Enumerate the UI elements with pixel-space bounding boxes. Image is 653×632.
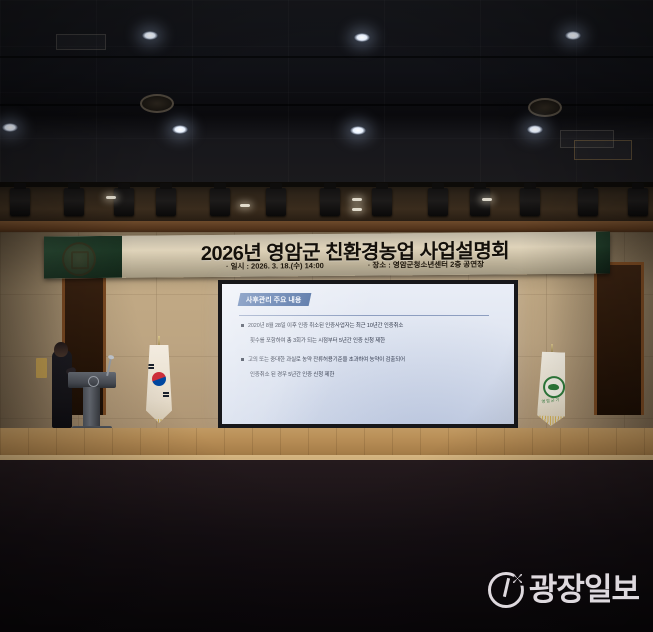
slide-header-tab: 사후관리 주요 내용 (238, 293, 312, 306)
stage-light-fixture (520, 188, 540, 216)
bullet-2-text-1: 고의 또는 중대한 과실로 농약 잔류허용기준을 초과하여 농약이 검출되어 (248, 357, 405, 363)
ceiling-downlight (565, 31, 581, 40)
stage-door-right (594, 262, 644, 415)
stage-light-fixture (628, 188, 648, 216)
flag-label: 영암군기 (541, 397, 560, 405)
press-watermark: 광장일보 (488, 572, 639, 606)
ceiling-downlight (350, 126, 366, 135)
stage-light-fixture (578, 188, 598, 216)
slide-bullet-2-line-2: 인증취소 된 경우 5년간 인증 신청 제한 (241, 373, 495, 379)
slide-bullet-1-line-2: 횟수를 포함하여 총 3회가 되는 시점부터 5년간 인증 신청 제한 (241, 339, 495, 345)
ceiling-downlight (142, 31, 158, 40)
wall-plate (36, 358, 47, 378)
ceiling-tile-grid (0, 0, 653, 186)
projection-screen: 사후관리 주요 내용 2020년 8월 28일 이후 인증 취소된 인증사업자는… (218, 280, 518, 428)
korean-national-flag (146, 345, 172, 423)
stage-light-fixture (64, 188, 84, 216)
stage-light-fixture (266, 188, 286, 216)
event-banner: 2026년 영암군 친환경농업 사업설명회 · 일시 : 2026. 3. 18… (44, 232, 610, 279)
sparkle-icon (513, 574, 522, 583)
stage-light-fixture (10, 188, 30, 216)
ceiling-vent (56, 34, 106, 50)
ceiling-downlight (354, 33, 370, 42)
taeguk-symbol (152, 372, 166, 386)
ceiling-downlight (172, 125, 188, 134)
ceiling (0, 0, 653, 186)
county-emblem-icon (543, 376, 566, 399)
ceiling-downlight (527, 125, 543, 134)
bullet-1-text-1: 2020년 8월 28일 이후 인증 취소된 인증사업자는 최근 10년간 인증… (248, 323, 403, 329)
slide-header-text: 사후관리 주요 내용 (246, 295, 301, 305)
watermark-text: 광장일보 (529, 574, 639, 605)
lectern (68, 372, 116, 434)
stage-lighting-truss (0, 182, 653, 224)
presenter-head (54, 342, 68, 357)
auditorium-photo: 2026년 영암군 친환경농업 사업설명회 · 일시 : 2026. 3. 18… (0, 0, 653, 632)
bullet-square-icon (241, 358, 244, 361)
stage-light-fixture (372, 188, 392, 216)
stage-light-fixture (428, 188, 448, 216)
stage-light-fixture (470, 188, 490, 216)
ceiling-light-ring (140, 94, 174, 113)
yeongam-county-flag: 영암군기 (537, 352, 568, 427)
bullet-square-icon (241, 324, 244, 327)
lectern-emblem-icon (88, 376, 99, 387)
ceiling-light-ring (528, 98, 562, 117)
stage-light-fixture (156, 188, 176, 216)
slide-bullet-1-line-1: 2020년 8월 28일 이후 인증 취소된 인증사업자는 최근 10년간 인증… (241, 324, 495, 330)
stage-light-fixture (114, 188, 134, 216)
ceiling-vent (574, 140, 632, 160)
slide-bullet-2-line-1: 고의 또는 중대한 과실로 농약 잔류허용기준을 초과하여 농약이 검출되어 (241, 358, 495, 364)
gwangjang-ilbo-logo-icon (488, 572, 522, 606)
slide-divider (239, 315, 489, 316)
stage-light-fixture (320, 188, 340, 216)
ceiling-downlight (2, 123, 18, 132)
slide-body: 2020년 8월 28일 이후 인증 취소된 인증사업자는 최근 10년간 인증… (241, 324, 495, 388)
stage-light-fixture (210, 188, 230, 216)
